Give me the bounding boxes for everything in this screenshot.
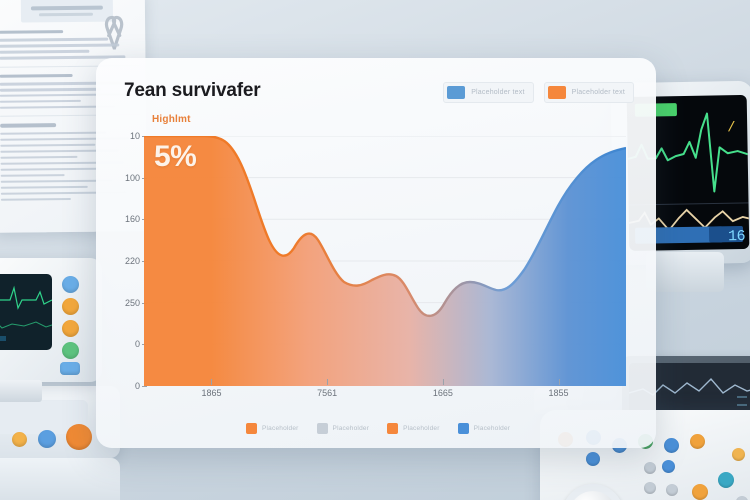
monitor-button-orange-1[interactable]: [62, 298, 79, 315]
legend-swatch-orange-1: [246, 423, 257, 434]
document-title-line: [31, 6, 103, 11]
legend-top-label-2: Placeholder text: [572, 89, 625, 96]
legend-swatch-blue: [447, 86, 465, 99]
legend-bottom: Placeholder Placeholder Placeholder Plac…: [246, 423, 510, 434]
us-button-orange-2[interactable]: [690, 434, 705, 449]
y-tick: 0: [135, 339, 140, 349]
legend-bottom-item-2[interactable]: Placeholder: [317, 423, 370, 434]
legend-bottom-label-2: Placeholder: [333, 425, 370, 432]
ultrasound-trackball[interactable]: [562, 484, 624, 500]
x-tick: 7561: [317, 388, 337, 398]
legend-bottom-label-1: Placeholder: [262, 425, 299, 432]
page-title: 7ean survivafer: [124, 80, 260, 102]
us-button-gray-3[interactable]: [666, 484, 678, 496]
y-tick: 250: [125, 298, 140, 308]
cart-button-amber[interactable]: [12, 432, 27, 447]
document-header-block: [21, 0, 113, 23]
us-button-gray-5[interactable]: [736, 496, 748, 500]
x-tick: 1865: [201, 388, 221, 398]
legend-bottom-label-3: Placeholder: [403, 425, 440, 432]
callout-value: 5%: [154, 140, 196, 174]
legend-bottom-label-4: Placeholder: [474, 425, 511, 432]
x-axis: 1865 7561 1665 1855: [144, 388, 626, 408]
us-button-amber[interactable]: [732, 448, 745, 461]
us-button-blue-2[interactable]: [586, 452, 600, 466]
legend-top: Placeholder text Placeholder text: [443, 82, 634, 103]
y-tick: 100: [125, 173, 140, 183]
us-button-gray-2[interactable]: [644, 482, 656, 494]
us-button-blue-4[interactable]: [664, 438, 679, 453]
legend-swatch-orange: [548, 86, 566, 99]
ecg-readout-value: 16: [728, 228, 745, 245]
y-axis: 10 100 160 220 250 0 0: [96, 136, 144, 386]
ecg-monitor-stand: [646, 252, 724, 292]
y-tick: 0: [135, 381, 140, 391]
us-button-gray-1[interactable]: [644, 462, 656, 474]
cart-drawer-lower: [0, 458, 120, 500]
legend-swatch-orange-2: [387, 423, 398, 434]
monitor-button-orange-2[interactable]: [62, 320, 79, 337]
legend-top-item-2[interactable]: Placeholder text: [544, 82, 634, 103]
area-chart-svg: [144, 136, 626, 386]
x-tick: 1665: [433, 388, 453, 398]
patient-monitor-left-screen: [0, 274, 52, 350]
y-tick: 10: [130, 131, 140, 141]
cart-button-power[interactable]: [66, 424, 92, 450]
plot-area: [144, 136, 626, 386]
us-button-orange-3[interactable]: [692, 484, 708, 500]
cart-button-blue[interactable]: [38, 430, 56, 448]
legend-top-item-1[interactable]: Placeholder text: [443, 82, 533, 103]
monitor-button-blue-1[interactable]: [62, 276, 79, 293]
monitor-button-blue-2[interactable]: [60, 362, 80, 375]
patient-monitor-left: [0, 258, 102, 382]
x-tick: 1855: [549, 388, 569, 398]
y-tick: 220: [125, 256, 140, 266]
us-button-teal[interactable]: [718, 472, 734, 488]
monitor-stand: [0, 380, 42, 402]
chart-card: 7ean survivafer Placeholder text Placeho…: [96, 58, 656, 448]
legend-bottom-item-1[interactable]: Placeholder: [246, 423, 299, 434]
monitor-button-green[interactable]: [62, 342, 79, 359]
highlight-annotation-label: Highlmt: [152, 114, 191, 125]
legend-swatch-blue-2: [458, 423, 469, 434]
legend-top-label-1: Placeholder text: [471, 89, 524, 96]
us-button-blue-5[interactable]: [662, 460, 675, 473]
legend-swatch-gray: [317, 423, 328, 434]
y-tick: 160: [125, 214, 140, 224]
legend-bottom-item-3[interactable]: Placeholder: [387, 423, 440, 434]
legend-bottom-item-4[interactable]: Placeholder: [458, 423, 511, 434]
svg-text:/: /: [727, 120, 736, 136]
